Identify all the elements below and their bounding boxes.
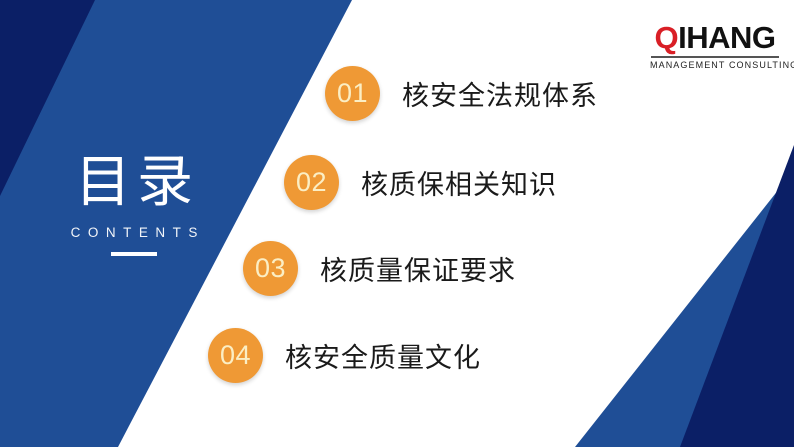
agenda-item-01[interactable]: 01 核安全法规体系 <box>325 66 598 121</box>
logo-word-rest: IHANG <box>678 20 775 55</box>
agenda-item-03[interactable]: 03 核质量保证要求 <box>243 241 516 296</box>
agenda-number-circle-03[interactable]: 03 <box>243 241 298 296</box>
logo-tagline: MANAGEMENT CONSULTING <box>650 60 780 70</box>
agenda-item-02[interactable]: 02 核质保相关知识 <box>284 155 557 210</box>
agenda-label-01: 核安全法规体系 <box>402 74 598 113</box>
company-logo: QIHANG MANAGEMENT CONSULTING <box>650 22 780 70</box>
title-underline-rule <box>111 252 157 256</box>
logo-letter-q: Q <box>654 20 678 55</box>
agenda-number-02: 02 <box>296 167 327 198</box>
logo-wordmark: QIHANG <box>650 22 780 53</box>
logo-divider-rule <box>651 56 779 58</box>
agenda-number-04: 04 <box>220 340 251 371</box>
agenda-number-circle-02[interactable]: 02 <box>284 155 339 210</box>
contents-heading-block: 目录 CONTENTS <box>48 155 220 256</box>
agenda-label-02: 核质保相关知识 <box>361 163 557 202</box>
agenda-number-03: 03 <box>255 253 286 284</box>
presentation-slide: 目录 CONTENTS 01 核安全法规体系 02 核质保相关知识 03 核质量… <box>0 0 794 447</box>
page-title: 目录 <box>48 155 220 211</box>
agenda-number-01: 01 <box>337 78 368 109</box>
agenda-label-04: 核安全质量文化 <box>285 336 481 375</box>
agenda-number-circle-04[interactable]: 04 <box>208 328 263 383</box>
agenda-number-circle-01[interactable]: 01 <box>325 66 380 121</box>
agenda-item-04[interactable]: 04 核安全质量文化 <box>208 328 481 383</box>
page-subtitle: CONTENTS <box>48 225 220 240</box>
agenda-label-03: 核质量保证要求 <box>320 249 516 288</box>
